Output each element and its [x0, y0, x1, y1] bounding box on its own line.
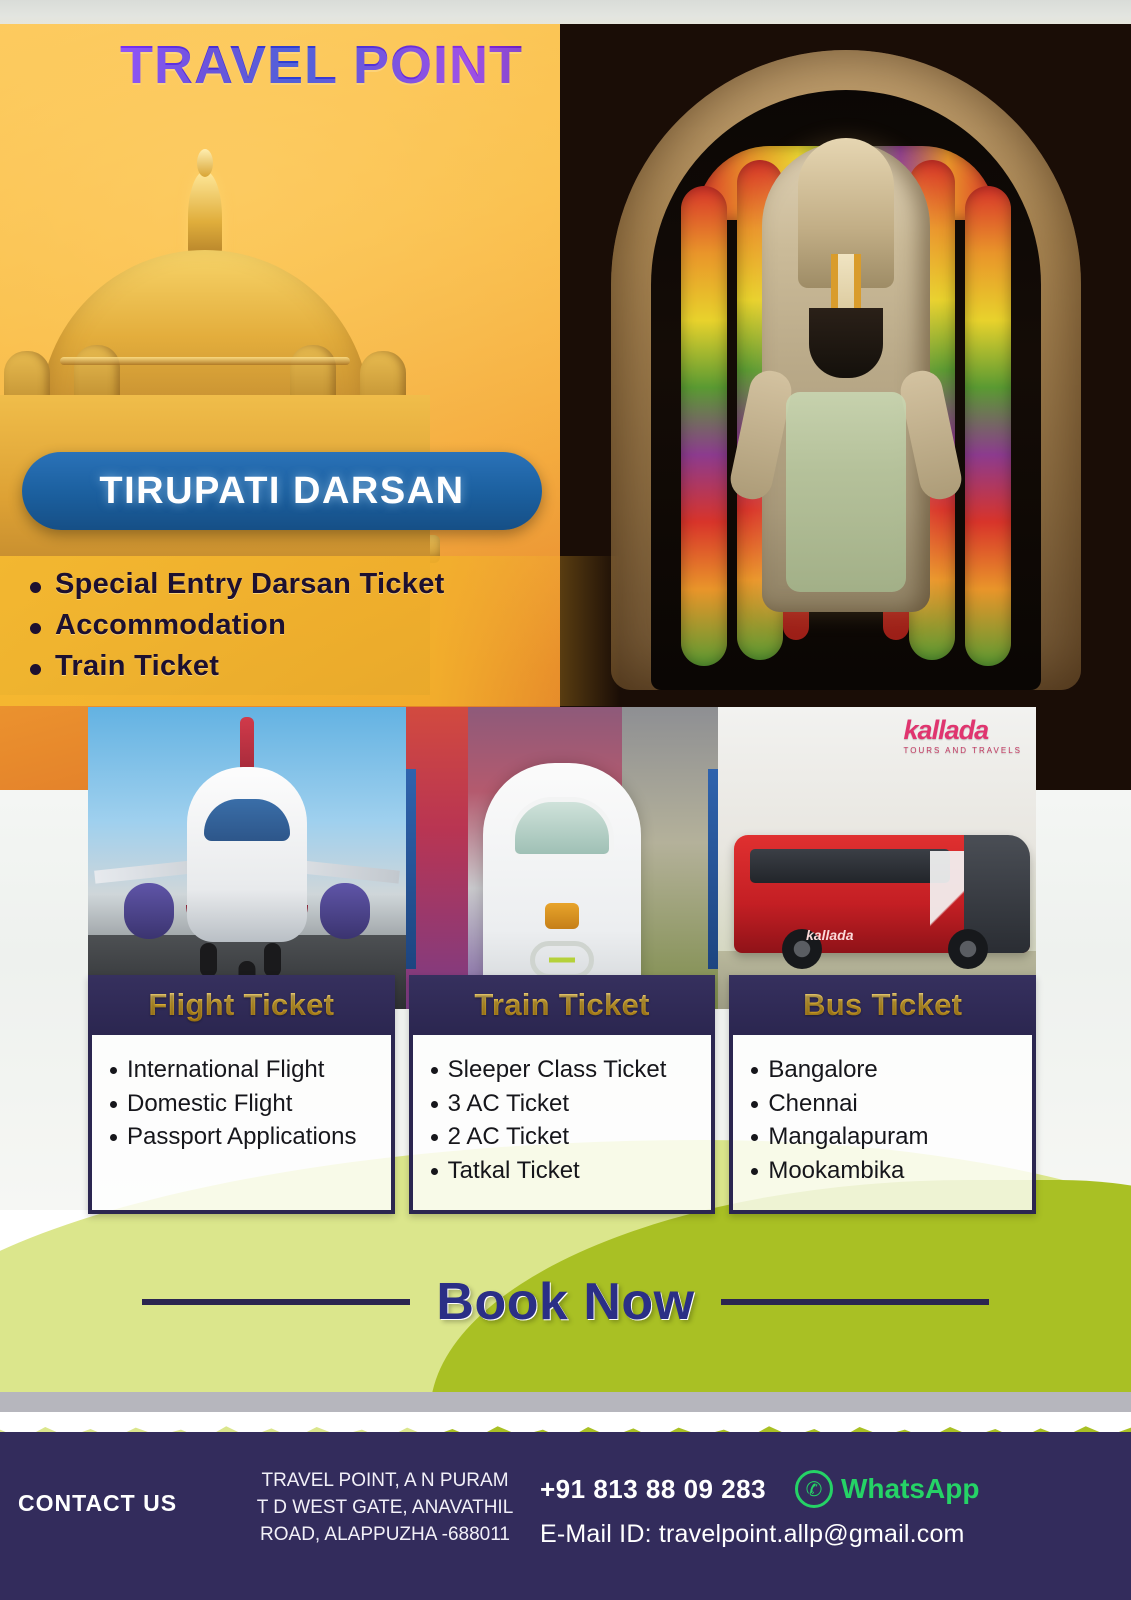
bus-photo: kallada TOURS AND TRAVELS kallada — [718, 707, 1036, 1009]
book-now-label: Book Now — [436, 1272, 694, 1332]
bullet-icon — [751, 1101, 758, 1108]
whatsapp-badge[interactable]: ✆ WhatsApp — [795, 1470, 979, 1508]
list-item-label: Bangalore — [768, 1055, 877, 1086]
address-line-3: ROAD, ALAPPUZHA -688011 — [240, 1522, 530, 1549]
bullet-icon — [751, 1067, 758, 1074]
kallada-logo: kallada TOURS AND TRAVELS — [904, 715, 1022, 755]
card-body: International Flight Domestic Flight Pas… — [92, 1035, 391, 1210]
bullet-icon — [751, 1134, 758, 1141]
idol-figure — [762, 142, 930, 612]
train-coupler-icon — [530, 941, 594, 979]
deity-sanctum — [651, 90, 1041, 690]
list-item: Mookambika — [751, 1156, 1018, 1187]
card-title: Train Ticket — [474, 987, 649, 1022]
train-front — [483, 763, 641, 1009]
card-header: Train Ticket — [409, 975, 716, 1035]
airplane-engine-left — [124, 883, 174, 939]
hero-feature-list: Special Entry Darsan Ticket Accommodatio… — [0, 556, 620, 706]
idol-face — [809, 308, 883, 378]
bullet-icon — [431, 1134, 438, 1141]
list-item-label: Mookambika — [768, 1156, 904, 1187]
list-item-label: International Flight — [127, 1055, 324, 1086]
book-now-cta[interactable]: Book Now — [0, 1262, 1131, 1342]
bus-window — [750, 849, 950, 883]
card-header: Flight Ticket — [88, 975, 395, 1035]
feature-item: Accommodation — [30, 609, 620, 642]
bullet-icon — [30, 582, 41, 593]
list-item-label: Domestic Flight — [127, 1089, 292, 1120]
address-line-1: TRAVEL POINT, A N PURAM — [240, 1468, 530, 1495]
train-side-right — [708, 769, 718, 969]
list-item-label: Passport Applications — [127, 1122, 356, 1153]
card-title: Flight Ticket — [148, 987, 334, 1022]
train-emblem-icon — [545, 903, 579, 929]
airplane-landing-gear — [264, 943, 281, 977]
contact-us-label: CONTACT US — [18, 1490, 177, 1517]
feature-label: Accommodation — [55, 609, 286, 642]
train-windshield — [510, 797, 614, 859]
card-body: Sleeper Class Ticket 3 AC Ticket 2 AC Ti… — [413, 1035, 712, 1210]
footer-contact-bar: CONTACT US TRAVEL POINT, A N PURAM T D W… — [0, 1432, 1131, 1600]
feature-label: Special Entry Darsan Ticket — [55, 568, 445, 601]
flower-garland — [681, 186, 727, 666]
bullet-icon — [110, 1134, 117, 1141]
list-item: Domestic Flight — [110, 1089, 377, 1120]
list-item-label: 2 AC Ticket — [448, 1122, 569, 1153]
tirupati-darsan-label: TIRUPATI DARSAN — [99, 470, 464, 513]
bus-wheel — [948, 929, 988, 969]
whatsapp-label: WhatsApp — [841, 1473, 979, 1505]
list-item: 2 AC Ticket — [431, 1122, 698, 1153]
list-item-label: Chennai — [768, 1089, 857, 1120]
card-flight-ticket[interactable]: Flight Ticket International Flight Domes… — [88, 975, 395, 1214]
flower-garland — [965, 186, 1011, 666]
address-block: TRAVEL POINT, A N PURAM T D WEST GATE, A… — [240, 1468, 530, 1549]
list-item-label: Mangalapuram — [768, 1122, 928, 1153]
list-item: Tatkal Ticket — [431, 1156, 698, 1187]
card-header: Bus Ticket — [729, 975, 1036, 1035]
airplane-landing-gear — [200, 943, 217, 977]
train-side-left — [406, 769, 416, 969]
list-item: Chennai — [751, 1089, 1018, 1120]
address-line-2: T D WEST GATE, ANAVATHIL — [240, 1495, 530, 1522]
bus-body — [734, 835, 1030, 953]
list-item: Sleeper Class Ticket — [431, 1055, 698, 1086]
phone-number[interactable]: +91 813 88 09 283 — [540, 1474, 766, 1505]
airplane-photo — [88, 707, 406, 1009]
bullet-icon — [431, 1101, 438, 1108]
list-item: Bangalore — [751, 1055, 1018, 1086]
feature-item: Special Entry Darsan Ticket — [30, 568, 620, 601]
feature-item: Train Ticket — [30, 650, 620, 683]
card-bus-ticket[interactable]: Bus Ticket Bangalore Chennai Mangalapura… — [729, 975, 1036, 1214]
bullet-icon — [431, 1168, 438, 1175]
bullet-icon — [431, 1067, 438, 1074]
card-body: Bangalore Chennai Mangalapuram Mookambik… — [733, 1035, 1032, 1210]
divider-right — [721, 1299, 989, 1305]
page-title: TRAVEL POINT — [120, 34, 523, 96]
ticket-cards-row: Flight Ticket International Flight Domes… — [88, 975, 1036, 1214]
bullet-icon — [30, 623, 41, 634]
tirupati-darsan-badge: TIRUPATI DARSAN — [22, 452, 542, 530]
bullet-icon — [751, 1168, 758, 1175]
divider-left — [142, 1299, 410, 1305]
airplane-engine-right — [320, 883, 370, 939]
kallada-logo-sub: TOURS AND TRAVELS — [904, 746, 1022, 755]
list-item: 3 AC Ticket — [431, 1089, 698, 1120]
airplane-fuselage — [187, 767, 307, 942]
list-item-label: 3 AC Ticket — [448, 1089, 569, 1120]
bus-side-branding: kallada — [806, 927, 853, 943]
poster-root: TRAVEL POINT TIRUPATI DARSAN Special Ent… — [0, 0, 1131, 1600]
kallada-logo-text: kallada — [904, 715, 989, 745]
email-address[interactable]: E-Mail ID: travelpoint.allp@gmail.com — [540, 1520, 965, 1549]
deity-venkateswara-image — [560, 24, 1131, 814]
transport-photo-row: kallada TOURS AND TRAVELS kallada — [88, 707, 1036, 1009]
whatsapp-icon: ✆ — [795, 1470, 833, 1508]
list-item-label: Sleeper Class Ticket — [448, 1055, 667, 1086]
list-item: Passport Applications — [110, 1122, 377, 1153]
idol-torso — [786, 392, 906, 592]
feature-label: Train Ticket — [55, 650, 219, 683]
train-photo — [406, 707, 718, 1009]
bullet-icon — [110, 1067, 117, 1074]
bullet-icon — [110, 1101, 117, 1108]
card-title: Bus Ticket — [803, 987, 962, 1022]
card-train-ticket[interactable]: Train Ticket Sleeper Class Ticket 3 AC T… — [409, 975, 716, 1214]
list-item: Mangalapuram — [751, 1122, 1018, 1153]
bullet-icon — [30, 664, 41, 675]
gopuram-carving — [60, 357, 350, 365]
list-item: International Flight — [110, 1055, 377, 1086]
list-item-label: Tatkal Ticket — [448, 1156, 580, 1187]
